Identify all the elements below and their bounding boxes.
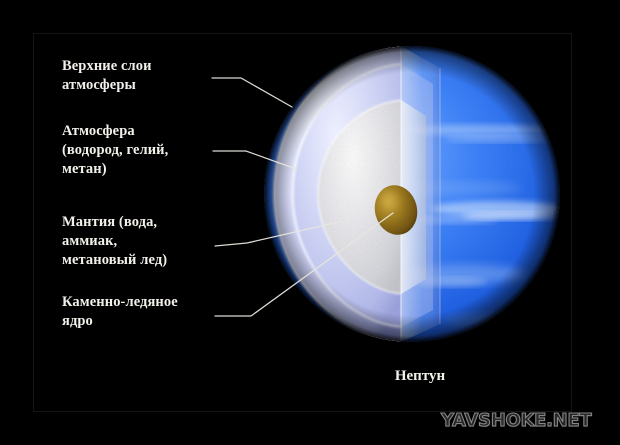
label-upper-atmosphere: Верхние слои атмосферы	[62, 57, 214, 95]
limb-vignette	[264, 46, 560, 342]
label-core: Каменно-ледяное ядро	[62, 293, 227, 331]
site-watermark: YAVSHOKE.NET	[441, 410, 591, 431]
neptune-cutaway-illustration	[262, 38, 562, 350]
planet-name-label: Нептун	[340, 368, 500, 385]
label-mantle: Мантия (вода, аммиак, метановый лед)	[62, 213, 222, 270]
label-atmosphere: Атмосфера (водород, гелий, метан)	[62, 122, 222, 179]
neptune-surface	[264, 46, 562, 342]
diagram-canvas: Верхние слои атмосферы Атмосфера (водоро…	[0, 0, 620, 445]
